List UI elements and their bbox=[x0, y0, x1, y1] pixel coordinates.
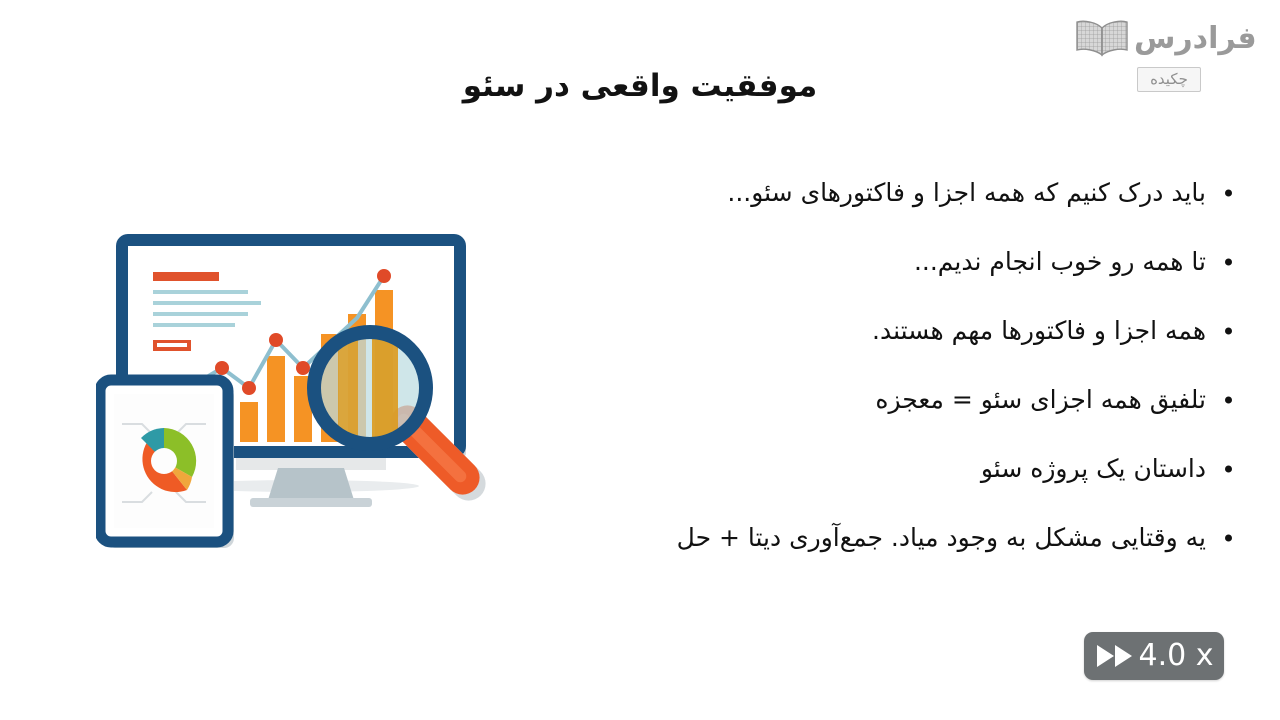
list-item: تا همه رو خوب انجام ندیم... bbox=[532, 227, 1232, 296]
list-item-label: یه وقتایی مشکل به وجود میاد. جمع‌آوری دی… bbox=[677, 522, 1206, 553]
text-header-bar bbox=[153, 272, 219, 281]
list-item: تلفیق همه اجزای سئو = معجزه bbox=[532, 365, 1232, 434]
monitor-base bbox=[250, 498, 372, 507]
list-item-label: تلفیق همه اجزای سئو = معجزه bbox=[875, 384, 1206, 415]
page-title: موفقیت واقعی در سئو bbox=[0, 68, 1280, 104]
bar bbox=[267, 356, 285, 442]
list-item-label: همه اجزا و فاکتورها مهم هستند. bbox=[872, 315, 1206, 346]
text-line bbox=[153, 323, 235, 327]
bullet-dot-icon bbox=[1225, 189, 1232, 196]
bullet-dot-icon bbox=[1225, 327, 1232, 334]
open-book-icon bbox=[1074, 19, 1130, 59]
list-item-label: تا همه رو خوب انجام ندیم... bbox=[914, 246, 1206, 277]
bullet-dot-icon bbox=[1225, 534, 1232, 541]
bullet-dot-icon bbox=[1225, 465, 1232, 472]
data-point bbox=[215, 361, 229, 375]
brand-name: فرادرس bbox=[1134, 24, 1257, 54]
playback-speed-label: 4.0 x bbox=[1139, 641, 1214, 671]
list-item-label: باید درک کنیم که همه اجزا و فاکتورهای سئ… bbox=[727, 177, 1206, 208]
donut-hole bbox=[151, 448, 177, 474]
list-item: داستان یک پروژه سئو bbox=[532, 434, 1232, 503]
monitor-stand bbox=[268, 468, 354, 500]
list-item: همه اجزا و فاکتورها مهم هستند. bbox=[532, 296, 1232, 365]
list-item: باید درک کنیم که همه اجزا و فاکتورهای سئ… bbox=[532, 158, 1232, 227]
playback-speed-badge[interactable]: 4.0 x bbox=[1084, 632, 1224, 680]
fast-forward-icon bbox=[1095, 642, 1135, 670]
bar bbox=[240, 402, 258, 442]
text-line bbox=[153, 290, 248, 294]
data-point bbox=[296, 361, 310, 375]
bullet-dot-icon bbox=[1225, 396, 1232, 403]
seo-analytics-illustration bbox=[96, 228, 576, 568]
bullet-dot-icon bbox=[1225, 258, 1232, 265]
list-item-label: داستان یک پروژه سئو bbox=[981, 453, 1206, 484]
bullet-list: باید درک کنیم که همه اجزا و فاکتورهای سئ… bbox=[532, 158, 1232, 572]
text-line bbox=[153, 312, 248, 316]
data-point bbox=[242, 381, 256, 395]
brand-logo-row: فرادرس bbox=[1074, 14, 1264, 64]
list-item: یه وقتایی مشکل به وجود میاد. جمع‌آوری دی… bbox=[532, 503, 1232, 572]
text-line bbox=[153, 301, 261, 305]
data-point bbox=[377, 269, 391, 283]
tablet-device bbox=[100, 380, 234, 548]
data-point bbox=[269, 333, 283, 347]
